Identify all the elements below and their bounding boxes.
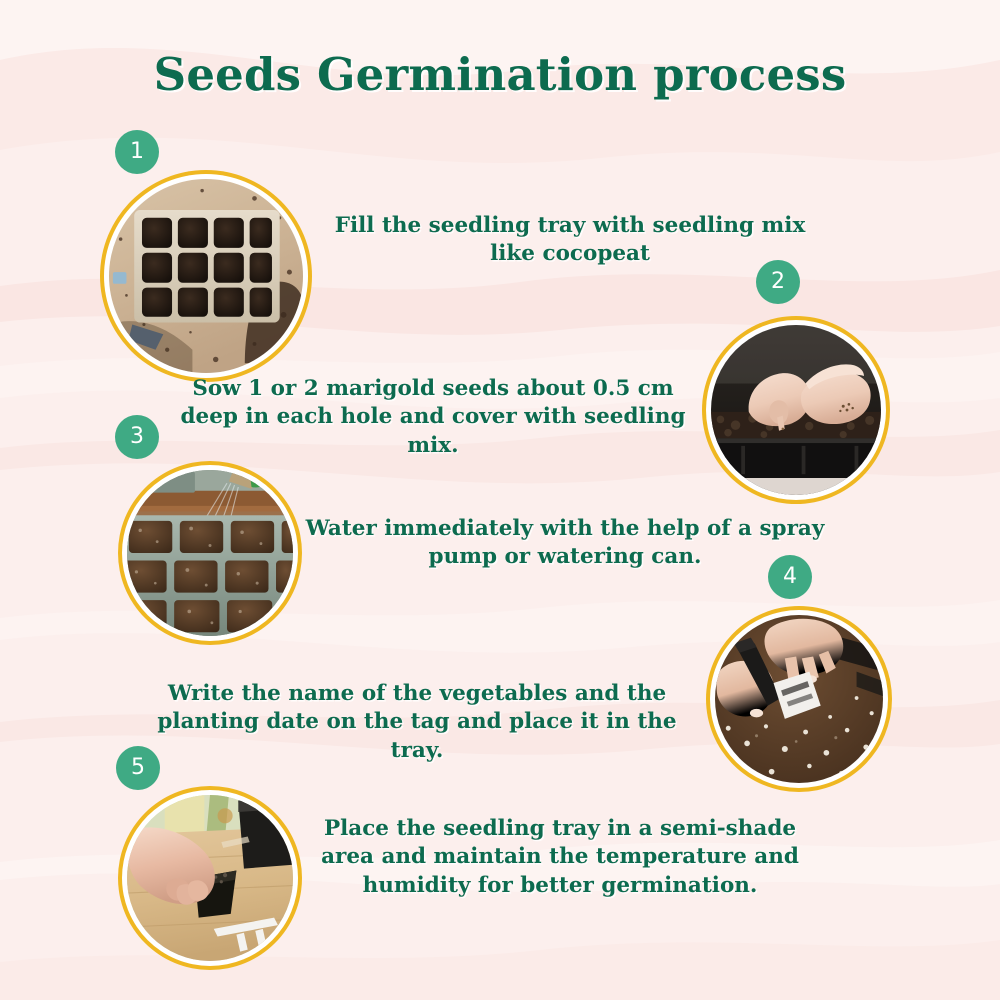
step-1-text: Fill the seedling tray with seedling mix…	[320, 212, 820, 269]
step-4-text: Write the name of the vegetables and the…	[132, 680, 702, 765]
page-title: Seeds Germination process	[0, 48, 1000, 101]
step-3-number: 3	[130, 426, 144, 448]
step-1-number: 1	[130, 141, 144, 163]
step-5-number: 5	[131, 757, 145, 779]
step-2-image	[706, 320, 886, 500]
step-2-text: Sow 1 or 2 marigold seeds about 0.5 cm d…	[178, 375, 688, 460]
step-5-image	[122, 790, 298, 966]
step-1-image	[104, 174, 308, 378]
step-4-image	[710, 610, 888, 788]
step-4-badge: 4	[768, 555, 812, 599]
hands-sowing-seeds-photo	[711, 325, 881, 495]
step-3-text: Water immediately with the help of a spr…	[300, 515, 830, 572]
infographic-poster: Seeds Germination process	[0, 0, 1000, 1000]
step-3-badge: 3	[115, 415, 159, 459]
step-1-badge: 1	[115, 130, 159, 174]
seedling-tray-filled-with-cocopeat-photo	[109, 179, 303, 373]
step-3-image	[122, 465, 298, 641]
step-5-badge: 5	[116, 746, 160, 790]
writing-plant-label-photo	[715, 615, 883, 783]
placing-seedling-pot-photo	[127, 795, 293, 961]
watering-tray-with-spray-photo	[127, 470, 293, 636]
step-5-text: Place the seedling tray in a semi-shade …	[310, 815, 810, 900]
step-2-badge: 2	[756, 260, 800, 304]
step-4-number: 4	[783, 566, 797, 588]
step-2-number: 2	[771, 271, 785, 293]
